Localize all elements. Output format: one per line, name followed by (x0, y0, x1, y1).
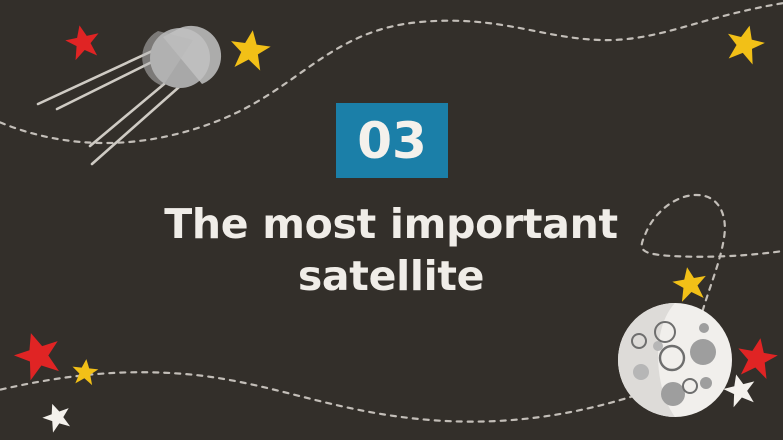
sputnik-satellite (38, 26, 221, 164)
presentation-slide: 03 The most important satellite (0, 0, 783, 440)
star-red-top-left (63, 22, 103, 61)
star-white-bottom-left (39, 399, 75, 434)
dotted-orbit-path-bottom (0, 372, 680, 421)
page-title-line-1: The most important (91, 198, 691, 250)
star-yellow-bottom-left (71, 358, 100, 386)
star-yellow-top-left (228, 27, 273, 71)
star-yellow-top-right (722, 21, 768, 66)
moon (618, 303, 732, 417)
section-number: 03 (357, 116, 427, 166)
star-red-bottom-right (734, 335, 780, 380)
star-red-bottom-left (9, 326, 67, 383)
page-title: The most important satellite (91, 198, 691, 303)
page-title-line-2: satellite (91, 250, 691, 302)
section-number-badge: 03 (336, 103, 448, 178)
